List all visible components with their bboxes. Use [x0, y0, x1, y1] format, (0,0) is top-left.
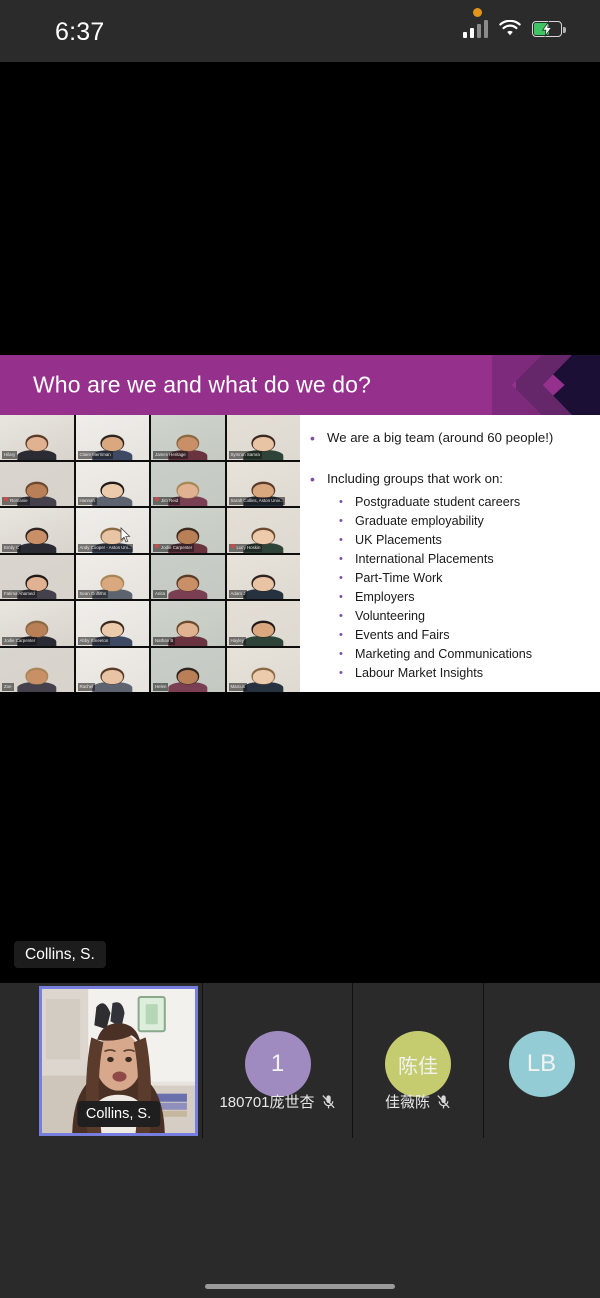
mic-off-icon — [436, 1094, 451, 1110]
shared-content-stage[interactable]: Who are we and what do we do? HilaryClai… — [0, 62, 600, 983]
video-wall-tile-name: Hilary — [2, 451, 17, 459]
video-wall-tile-name: Sean Griffiths — [78, 590, 109, 598]
video-wall-tile-name: Helen — [153, 683, 168, 691]
bullet-marker-icon: • — [339, 493, 355, 511]
video-wall-tile-name: Abby Smeeton — [78, 637, 111, 645]
video-wall-tile: Zoe — [0, 648, 74, 693]
meeting-screen: 6:37 Who are we and what do we do? — [0, 0, 600, 1298]
participant-filmstrip[interactable]: Collins, S. 1 180701庞世杏 陈佳 佳薇陈 — [0, 983, 600, 1138]
mic-off-icon — [155, 497, 159, 501]
video-wall-tile-name-text: Helen — [155, 684, 166, 689]
bullet-spacer — [310, 452, 592, 470]
video-wall-tile-name-text: Lucy Hoskin — [237, 545, 261, 550]
video-wall-tile-name: Andy Cooper - Aston Uni... — [78, 544, 134, 552]
video-wall-tile-name-text: Sean Griffiths — [80, 591, 107, 596]
slide-bullet-text: We are a big team (around 60 people!) — [327, 429, 553, 447]
slide-title: Who are we and what do we do? — [33, 372, 371, 399]
video-wall-tile: Helen — [151, 648, 225, 693]
video-wall-tile: Symrun Samra — [227, 415, 301, 460]
video-wall-tile: Fatima Ahamed — [0, 555, 74, 600]
video-wall-tile: Lucy Hoskin — [227, 508, 301, 553]
video-wall-tile: Rachel — [76, 648, 150, 693]
video-wall-tile-name-text: Jodie Carpenter — [4, 638, 35, 643]
video-wall-tile-name-text: Sarah Collins, Aston Univ... — [231, 498, 284, 503]
video-wall-tile-name-text: Fatima Ahamed — [4, 591, 35, 596]
participant-name-text-3: 佳薇陈 — [385, 1091, 430, 1112]
video-wall-tile-name: Sarah Collins, Aston Univ... — [229, 497, 286, 505]
video-wall-tile: Hilary — [0, 415, 74, 460]
video-wall-tile-name-text: Hayley — [231, 638, 244, 643]
slide-bullet-text: Graduate employability — [355, 512, 484, 530]
video-wall-tile: Abby Smeeton — [76, 601, 150, 646]
status-bar: 6:37 — [0, 0, 600, 62]
video-wall-tile: Claire Merriman — [76, 415, 150, 460]
video-wall-tile-name-text: Nathan B — [155, 638, 173, 643]
video-wall-tile: Adam J — [227, 555, 301, 600]
wifi-icon — [499, 20, 521, 38]
avatar: LB — [509, 1031, 575, 1097]
video-wall-tile: Romanie — [0, 462, 74, 507]
video-wall-tile: Nathan B — [151, 601, 225, 646]
avatar: 陈佳 — [385, 1031, 451, 1097]
video-wall-tile-name: Hayley — [229, 637, 246, 645]
video-wall-tile: Jodie Carpenter — [151, 508, 225, 553]
tile-person — [92, 484, 132, 506]
slide-bullet: •UK Placements — [310, 531, 592, 549]
slide-bullet: •International Placements — [310, 550, 592, 568]
video-wall-tile-name-text: Adam J — [231, 591, 246, 596]
participant-tile-3[interactable]: 陈佳 佳薇陈 — [353, 983, 484, 1138]
video-wall-tile-name: Romanie — [2, 497, 30, 505]
video-wall-tile: Marcus — [227, 648, 301, 693]
video-wall-tile-name-text: Hilary — [4, 452, 15, 457]
video-wall-tile-name: Lucy Hoskin — [229, 544, 263, 552]
video-wall-tile: Sean Griffiths — [76, 555, 150, 600]
participant-name-3: 佳薇陈 — [353, 1091, 483, 1112]
mic-off-icon — [4, 497, 8, 501]
slide-bullet-text: Part-Time Work — [355, 569, 442, 587]
bullet-marker-icon: • — [339, 550, 355, 568]
video-wall-tile-name-text: Zoe — [4, 684, 12, 689]
bullet-marker-icon: • — [339, 664, 355, 682]
tile-person — [17, 437, 57, 459]
video-wall-tile-name-text: Rachel — [80, 684, 94, 689]
video-wall-tile-name-text: Marcus — [231, 684, 245, 689]
participant-tile-2[interactable]: 1 180701庞世杏 — [203, 983, 353, 1138]
mic-off-icon — [321, 1094, 336, 1110]
video-wall-tile-name: Rachel — [78, 683, 96, 691]
mic-off-icon — [155, 544, 159, 548]
self-video-tile[interactable]: Collins, S. — [39, 986, 198, 1136]
video-wall-tile: James Heritage — [151, 415, 225, 460]
slide-bullet-text: Postgraduate student careers — [355, 493, 520, 511]
video-wall-tile-name: James Heritage — [153, 451, 188, 459]
slide-bullet: •Including groups that work on: — [310, 470, 592, 488]
slide-bullet: •Volunteering — [310, 607, 592, 625]
video-wall-tile-name: Jim Reid — [153, 497, 180, 505]
slide-bullet: •Labour Market Insights — [310, 664, 592, 682]
video-wall-tile: Andy Cooper - Aston Uni... — [76, 508, 150, 553]
video-wall-tile-name: Jodie Carpenter — [2, 637, 37, 645]
slide-bullet-text: Employers — [355, 588, 415, 606]
slide-bullet-text: Marketing and Communications — [355, 645, 532, 663]
slide-bullet: •Employers — [310, 588, 592, 606]
participant-name-2: 180701庞世杏 — [203, 1091, 352, 1112]
video-wall-tile-name-text: Jim Reid — [161, 498, 178, 503]
video-wall-tile: Sarah Collins, Aston Univ... — [227, 462, 301, 507]
participant-tile-4[interactable]: LB — [484, 983, 599, 1138]
tile-person — [243, 623, 283, 645]
tile-person — [17, 670, 57, 692]
video-wall-tile-name-text: Hannah — [80, 498, 95, 503]
video-wall-tile-name: Emily C — [2, 544, 21, 552]
tile-person — [243, 577, 283, 599]
self-tile-name: Collins, S. — [77, 1101, 160, 1127]
video-wall-tile-name: Adam J — [229, 590, 248, 598]
video-wall-tile-name-text: James Heritage — [155, 452, 186, 457]
status-time: 6:37 — [55, 18, 104, 47]
video-wall-tile: Jodie Carpenter — [0, 601, 74, 646]
active-speaker-label: Collins, S. — [14, 941, 106, 968]
bullet-marker-icon: • — [339, 607, 355, 625]
bullet-marker-icon: • — [310, 470, 327, 488]
tile-person — [92, 670, 132, 692]
bullet-marker-icon: • — [339, 512, 355, 530]
home-indicator — [205, 1284, 395, 1289]
video-wall-tile-name: Symrun Samra — [229, 451, 262, 459]
video-wall-tile-name: Anita — [153, 590, 167, 598]
video-wall-tile-name: Zoe — [2, 683, 14, 691]
video-wall-tile-name: Claire Merriman — [78, 451, 113, 459]
tile-person — [17, 530, 57, 552]
cellular-signal-icon — [463, 20, 489, 38]
mic-in-use-dot — [473, 8, 482, 17]
tile-person — [168, 670, 208, 692]
bullet-marker-icon: • — [339, 531, 355, 549]
bullet-marker-icon: • — [339, 645, 355, 663]
video-wall-tile-name: Fatima Ahamed — [2, 590, 37, 598]
slide-bullet: •Events and Fairs — [310, 626, 592, 644]
slide-bullet-text: Including groups that work on: — [327, 470, 503, 488]
slide-bullet-text: Volunteering — [355, 607, 425, 625]
video-wall-tile: Hannah — [76, 462, 150, 507]
slide-bullet-text: Labour Market Insights — [355, 664, 483, 682]
slide-header: Who are we and what do we do? — [0, 355, 600, 415]
tile-person — [168, 577, 208, 599]
slide-bullet: •We are a big team (around 60 people!) — [310, 429, 592, 447]
video-wall-tile-name: Hannah — [78, 497, 97, 505]
video-wall-tile-name-text: Abby Smeeton — [80, 638, 109, 643]
video-wall-tile-name-text: Emily C — [4, 545, 19, 550]
avatar: 1 — [245, 1031, 311, 1097]
call-control-bar — [0, 1138, 600, 1298]
video-wall-tile-name: Marcus — [229, 683, 247, 691]
slide-bullet: •Postgraduate student careers — [310, 493, 592, 511]
video-wall-tile: Emily C — [0, 508, 74, 553]
video-wall-tile-name-text: Claire Merriman — [80, 452, 111, 457]
video-wall-tile-name: Nathan B — [153, 637, 175, 645]
slide-bullet-list: •We are a big team (around 60 people!)•I… — [300, 415, 600, 692]
video-wall-tile: Jim Reid — [151, 462, 225, 507]
slide-bullet: •Marketing and Communications — [310, 645, 592, 663]
presentation-slide: Who are we and what do we do? HilaryClai… — [0, 355, 600, 692]
slide-bullet-text: UK Placements — [355, 531, 442, 549]
mic-off-icon — [231, 544, 235, 548]
bullet-marker-icon: • — [310, 429, 327, 447]
participant-tile-self[interactable]: Collins, S. — [0, 983, 203, 1138]
battery-charging-icon — [532, 21, 562, 37]
bullet-marker-icon: • — [339, 626, 355, 644]
tile-person — [243, 670, 283, 692]
bullet-marker-icon: • — [339, 569, 355, 587]
slide-bullet: •Graduate employability — [310, 512, 592, 530]
slide-bullet: •Part-Time Work — [310, 569, 592, 587]
video-wall-tile-name-text: Jodie Carpenter — [161, 545, 192, 550]
slide-bullet-text: Events and Fairs — [355, 626, 450, 644]
video-wall-tile: Hayley — [227, 601, 301, 646]
video-wall-tile-name: Jodie Carpenter — [153, 544, 194, 552]
status-icons — [463, 20, 563, 38]
slide-bullet-text: International Placements — [355, 550, 494, 568]
video-wall-tile-name-text: Andy Cooper - Aston Uni... — [80, 545, 132, 550]
video-wall-tile-name-text: Symrun Samra — [231, 452, 260, 457]
video-wall-tile-name-text: Romanie — [10, 498, 28, 503]
bullet-marker-icon: • — [339, 588, 355, 606]
slide-video-wall: HilaryClaire MerrimanJames HeritageSymru… — [0, 415, 300, 692]
participant-name-text-2: 180701庞世杏 — [219, 1091, 314, 1112]
video-wall-tile-name-text: Anita — [155, 591, 165, 596]
video-wall-tile: Anita — [151, 555, 225, 600]
